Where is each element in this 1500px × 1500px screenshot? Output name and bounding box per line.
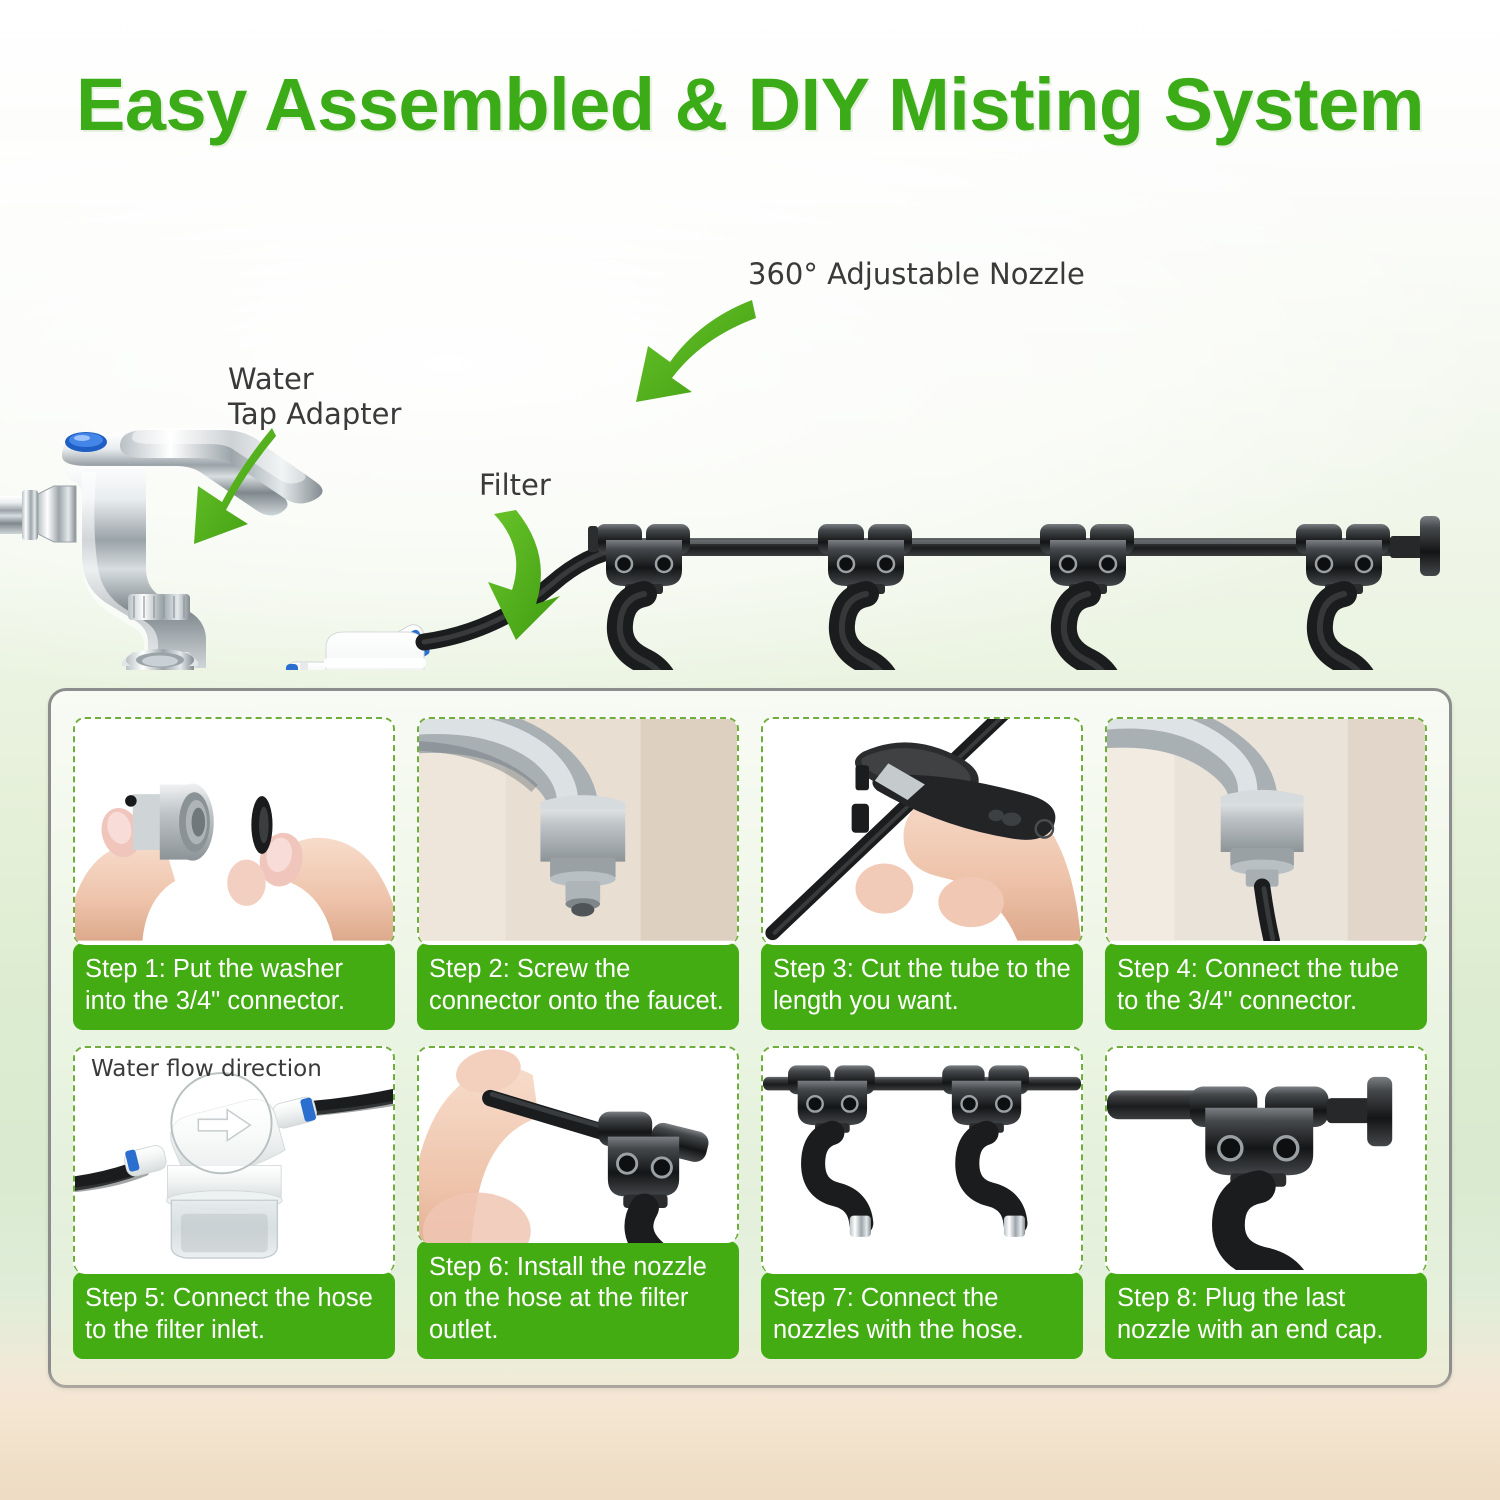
hero-diagram: 360° Adjustable Nozzle Water Tap Adapter… <box>0 180 1500 670</box>
step-photo-3 <box>761 717 1083 945</box>
step-photo-5: Water flow direction <box>73 1046 395 1274</box>
step-card-6: Step 6: Install the nozzle on the hose a… <box>417 1046 739 1359</box>
step-card-1: Step 1: Put the washer into the 3/4" con… <box>73 717 395 1030</box>
step-card-8: Step 8: Plug the last nozzle with an end… <box>1105 1046 1427 1359</box>
nozzle-assembly-3 <box>1040 524 1134 670</box>
step-photo-8 <box>1105 1046 1427 1274</box>
steps-grid: Step 1: Put the washer into the 3/4" con… <box>51 691 1449 1385</box>
step-card-7: Step 7: Connect the nozzles with the hos… <box>761 1046 1083 1359</box>
nozzle-assembly-4 <box>1296 516 1440 670</box>
scene-step-6 <box>419 1048 737 1243</box>
step-caption-8: Step 8: Plug the last nozzle with an end… <box>1105 1272 1427 1359</box>
step-photo-6 <box>417 1046 739 1243</box>
scene-step-7 <box>763 1048 1081 1270</box>
callout-nozzle: 360° Adjustable Nozzle <box>748 257 1085 292</box>
step-photo-2 <box>417 717 739 945</box>
hero-illustration <box>0 180 1500 670</box>
scene-step-3 <box>763 719 1081 941</box>
scene-step-1 <box>75 719 393 941</box>
tap-adapter-illustration <box>122 649 198 670</box>
faucet-spout-tip <box>128 594 190 620</box>
infographic-page: Easy Assembled & DIY Misting System <box>0 0 1500 1500</box>
step-card-2: Step 2: Screw the connector onto the fau… <box>417 717 739 1030</box>
step-card-3: Step 3: Cut the tube to the length you w… <box>761 717 1083 1030</box>
step-photo-4 <box>1105 717 1427 945</box>
filter-illustration <box>286 621 432 670</box>
manifold-illustration <box>588 516 1440 670</box>
step-card-4: Step 4: Connect the tube to the 3/4" con… <box>1105 717 1427 1030</box>
step-caption-2: Step 2: Screw the connector onto the fau… <box>417 943 739 1030</box>
step-photo-1 <box>73 717 395 945</box>
magnifier-circle <box>171 1073 271 1173</box>
scene-step-4 <box>1107 719 1425 941</box>
scene-step-2 <box>419 719 737 941</box>
faucet-illustration <box>0 428 323 668</box>
step-caption-5: Step 5: Connect the hose to the filter i… <box>73 1272 395 1359</box>
step-photo-7 <box>761 1046 1083 1274</box>
step-caption-6: Step 6: Install the nozzle on the hose a… <box>417 1241 739 1359</box>
end-cap-icon <box>1390 516 1440 576</box>
callout-adapter: Water Tap Adapter <box>228 362 401 433</box>
step-caption-4: Step 4: Connect the tube to the 3/4" con… <box>1105 943 1427 1030</box>
step-caption-1: Step 1: Put the washer into the 3/4" con… <box>73 943 395 1030</box>
steps-panel: Step 1: Put the washer into the 3/4" con… <box>48 688 1452 1388</box>
arrow-to-nozzle <box>636 300 756 402</box>
step-card-5: Water flow direction <box>73 1046 395 1359</box>
step-caption-7: Step 7: Connect the nozzles with the hos… <box>761 1272 1083 1359</box>
water-flow-direction-label: Water flow direction <box>91 1056 322 1082</box>
callout-filter: Filter <box>479 468 551 503</box>
nozzle-assembly-2 <box>818 524 912 670</box>
scene-step-8 <box>1107 1048 1425 1270</box>
step-caption-3: Step 3: Cut the tube to the length you w… <box>761 943 1083 1030</box>
page-title: Easy Assembled & DIY Misting System <box>0 62 1500 147</box>
nozzle-assembly-1 <box>588 524 690 670</box>
connector-part <box>125 784 214 861</box>
